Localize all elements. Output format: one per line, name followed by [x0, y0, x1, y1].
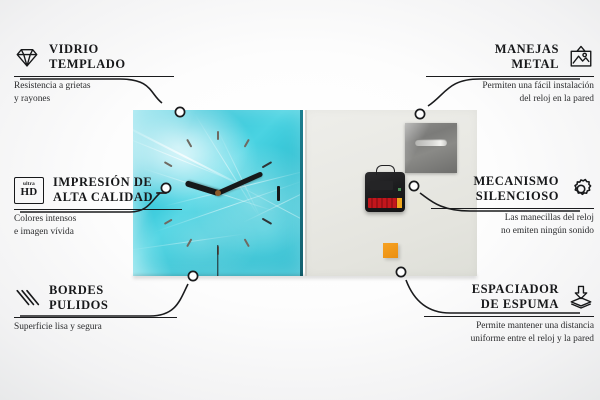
hanging-picture-frame-icon [568, 44, 594, 70]
feature-title: MANEJAS METAL [495, 42, 559, 73]
callout-dot-tempered-glass [175, 107, 184, 116]
feature-description: Las manecillas del reloj no emiten ningú… [408, 212, 594, 238]
infographic-canvas: VIDRIO TEMPLADO Resistencia a grietas y … [0, 0, 600, 400]
feature-description: Colores intensos e imagen vívida [14, 213, 204, 239]
feature-title: ESPACIADOR DE ESPUMA [472, 282, 559, 313]
feature-rule [426, 76, 594, 77]
gear-icon [568, 176, 594, 202]
feature-polished-edges: BORDES PULIDOS Superficie lisa y segura [14, 283, 200, 334]
feature-foam-spacer: ESPACIADOR DE ESPUMA Permite mantener un… [402, 282, 594, 346]
feature-metal-hangers: MANEJAS METAL Permiten una fácil instala… [404, 42, 594, 106]
feature-rule [424, 316, 594, 317]
diagonal-lines-icon [14, 285, 40, 311]
feature-description: Permite mantener una distancia uniforme … [402, 320, 594, 346]
feature-hd-print: ultra HD IMPRESIÓN DE ALTA CALIDAD Color… [14, 175, 204, 239]
callout-dot-polished-edges [188, 271, 197, 280]
feature-rule [14, 317, 177, 318]
ultra-hd-icon: ultra HD [14, 177, 44, 204]
feature-silent-mechanism: MECANISMO SILENCIOSO Las manecillas del … [408, 174, 594, 238]
diamond-icon [14, 44, 40, 70]
feature-tempered-glass: VIDRIO TEMPLADO Resistencia a grietas y … [14, 42, 200, 106]
arrow-down-layers-icon [568, 284, 594, 310]
feature-title: VIDRIO TEMPLADO [49, 42, 126, 73]
feature-description: Permiten una fácil instalación del reloj… [404, 80, 594, 106]
feature-description: Resistencia a grietas y rayones [14, 80, 200, 106]
feature-title: IMPRESIÓN DE ALTA CALIDAD [53, 175, 153, 206]
feature-rule [431, 208, 594, 209]
feature-title: MECANISMO SILENCIOSO [473, 174, 559, 205]
callout-dot-metal-hangers [415, 109, 424, 118]
callout-dot-foam-spacer [396, 267, 405, 276]
feature-description: Superficie lisa y segura [14, 321, 200, 334]
feature-title: BORDES PULIDOS [49, 283, 108, 314]
feature-rule [14, 209, 182, 210]
feature-rule [14, 76, 174, 77]
